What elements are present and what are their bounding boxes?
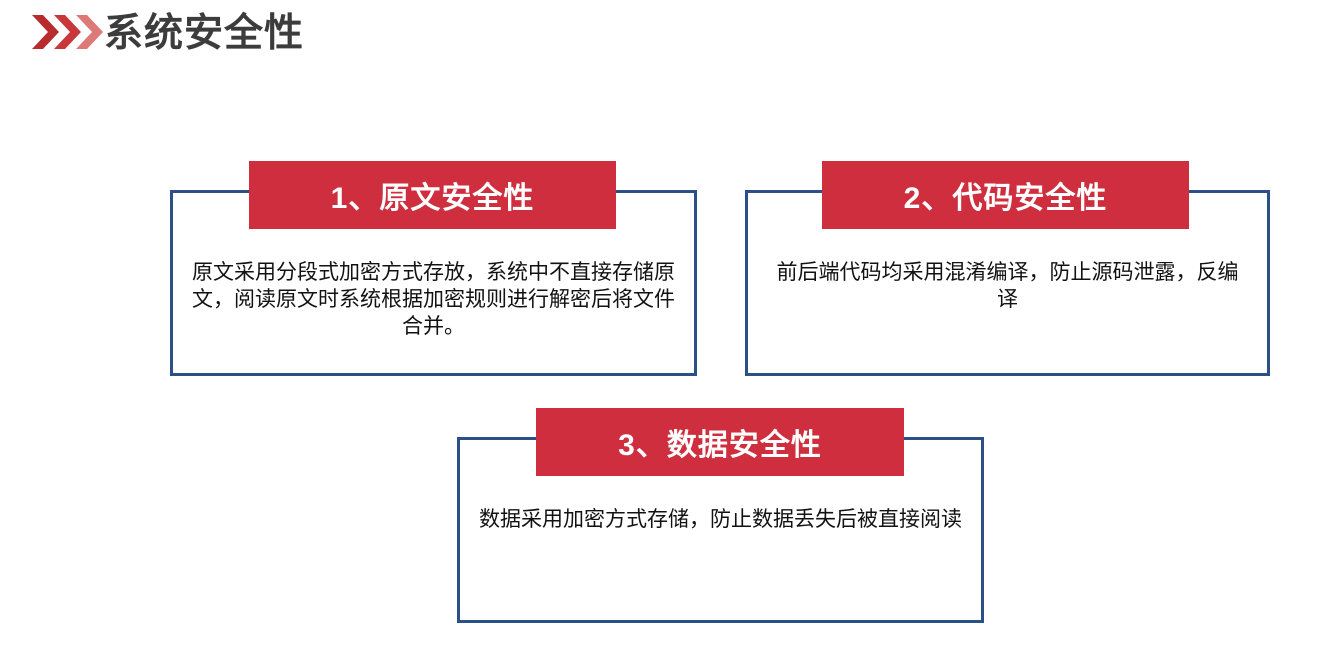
card-body-text: 原文采用分段式加密方式存放，系统中不直接存储原文，阅读原文时系统根据加密规则进行… <box>192 259 675 340</box>
card-body-text: 前后端代码均采用混淆编译，防止源码泄露，反编译 <box>767 259 1248 313</box>
slide-header: 系统安全性 <box>0 0 1336 70</box>
security-card-1: 1、原文安全性 原文采用分段式加密方式存放，系统中不直接存储原文，阅读原文时系统… <box>170 161 697 376</box>
card-banner-title: 1、原文安全性 <box>249 161 616 229</box>
card-body-text: 数据采用加密方式存储，防止数据丢失后被直接阅读 <box>479 506 962 533</box>
security-card-2: 2、代码安全性 前后端代码均采用混淆编译，防止源码泄露，反编译 <box>745 161 1270 376</box>
security-card-3: 3、数据安全性 数据采用加密方式存储，防止数据丢失后被直接阅读 <box>457 408 984 623</box>
card-banner-title: 2、代码安全性 <box>822 161 1189 229</box>
page-title: 系统安全性 <box>104 8 304 60</box>
card-banner-title: 3、数据安全性 <box>536 408 904 476</box>
triple-chevron-right-icon <box>32 13 106 51</box>
